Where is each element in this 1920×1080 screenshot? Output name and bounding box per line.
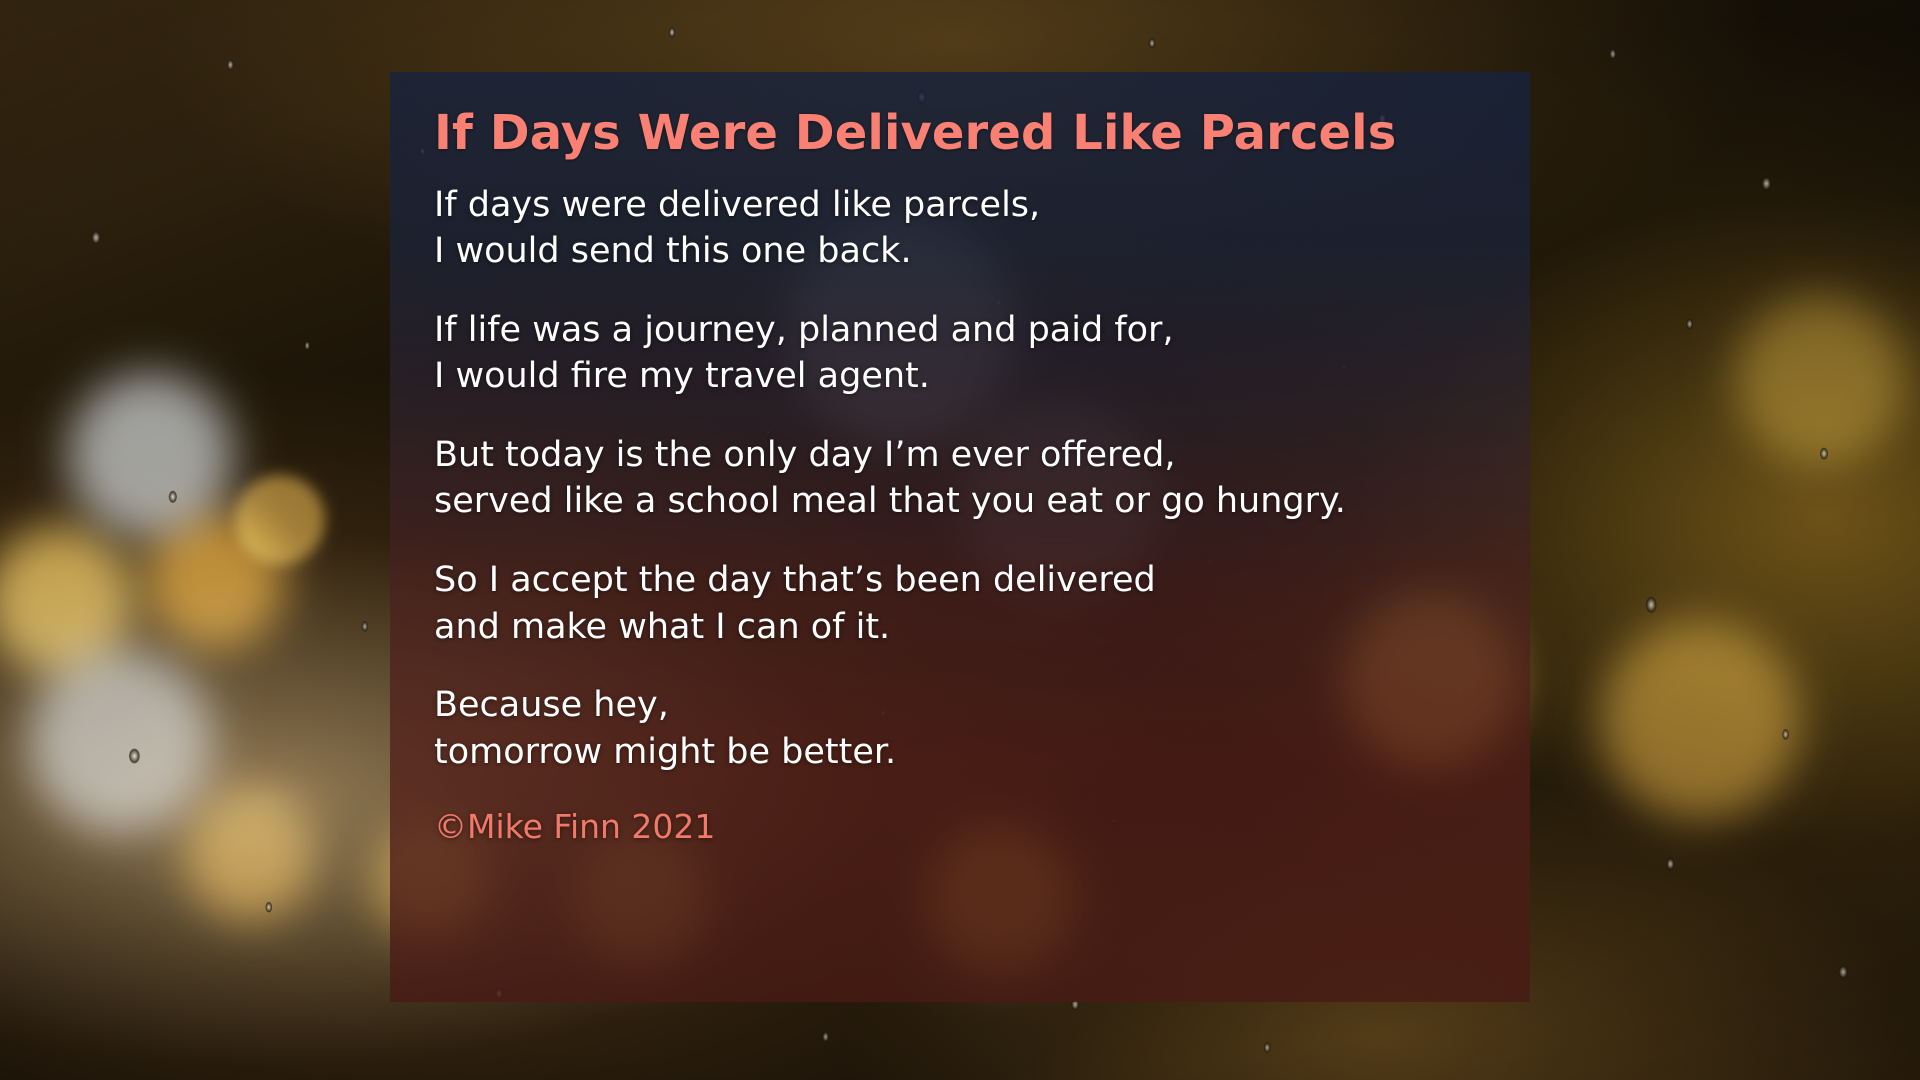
bokeh-amber-bottom-a: [185, 790, 315, 920]
poem-line: and make what I can of it.: [434, 604, 1490, 651]
poem-line: I would send this one back.: [434, 228, 1490, 275]
poem-line: tomorrow might be better.: [434, 729, 1490, 776]
poem-line: But today is the only day I’m ever offer…: [434, 432, 1490, 479]
poem-line: So I accept the day that’s been delivere…: [434, 557, 1490, 604]
bokeh-white-lower-left: [28, 648, 213, 833]
bokeh-amber-small-left: [235, 475, 325, 565]
poem-line: I would fire my travel agent.: [434, 353, 1490, 400]
poem-stanza: If days were delivered like parcels,I wo…: [434, 182, 1490, 275]
poem-slide: If Days Were Delivered Like Parcels If d…: [0, 0, 1920, 1080]
poem-line: If life was a journey, planned and paid …: [434, 307, 1490, 354]
poem-line: If days were delivered like parcels,: [434, 182, 1490, 229]
poem-body: If days were delivered like parcels,I wo…: [416, 182, 1490, 775]
poem-stanza: But today is the only day I’m ever offer…: [434, 432, 1490, 525]
poem-overlay-card: If Days Were Delivered Like Parcels If d…: [390, 72, 1530, 1002]
poem-credit: ©Mike Finn 2021: [416, 807, 1490, 847]
poem-stanza: So I accept the day that’s been delivere…: [434, 557, 1490, 650]
poem-title: If Days Were Delivered Like Parcels: [416, 106, 1490, 162]
poem-stanza: If life was a journey, planned and paid …: [434, 307, 1490, 400]
poem-line: served like a school meal that you eat o…: [434, 478, 1490, 525]
poem-stanza: Because hey,tomorrow might be better.: [434, 682, 1490, 775]
bokeh-amber-right-b: [1600, 620, 1800, 820]
poem-line: Because hey,: [434, 682, 1490, 729]
bokeh-amber-right-c: [1735, 295, 1905, 465]
